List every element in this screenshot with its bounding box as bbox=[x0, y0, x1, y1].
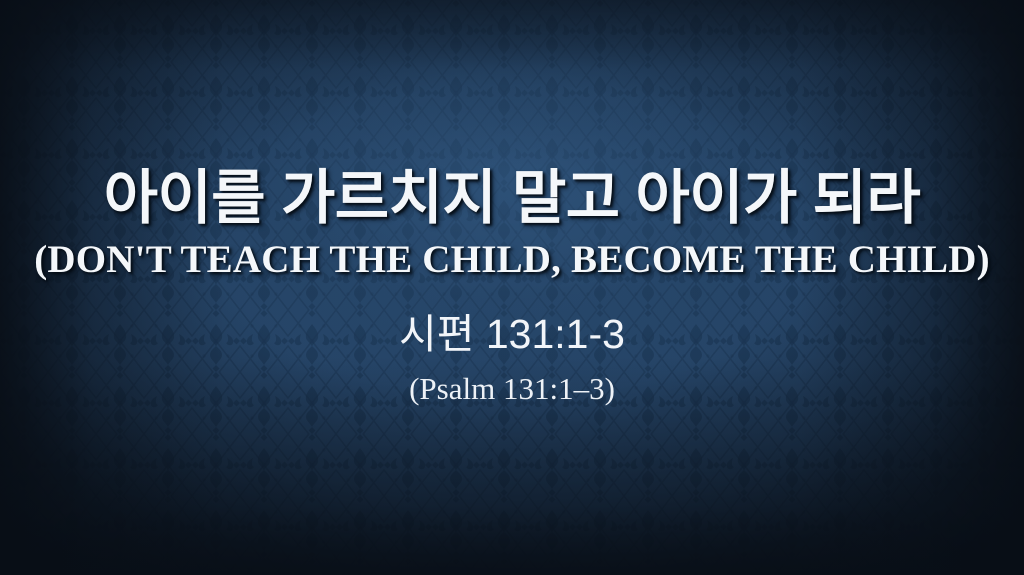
slide-title-english: (DON'T TEACH THE CHILD, BECOME THE CHILD… bbox=[0, 240, 1024, 281]
slide-content: 아이를 가르치지 말고 아이가 되라 (DON'T TEACH THE CHIL… bbox=[0, 0, 1024, 575]
slide-title-korean: 아이를 가르치지 말고 아이가 되라 bbox=[0, 168, 1024, 228]
scripture-reference-english: (Psalm 131:1–3) bbox=[0, 372, 1024, 406]
presentation-slide: 아이를 가르치지 말고 아이가 되라 (DON'T TEACH THE CHIL… bbox=[0, 0, 1024, 575]
scripture-reference-korean: 시편 131:1-3 bbox=[0, 312, 1024, 357]
